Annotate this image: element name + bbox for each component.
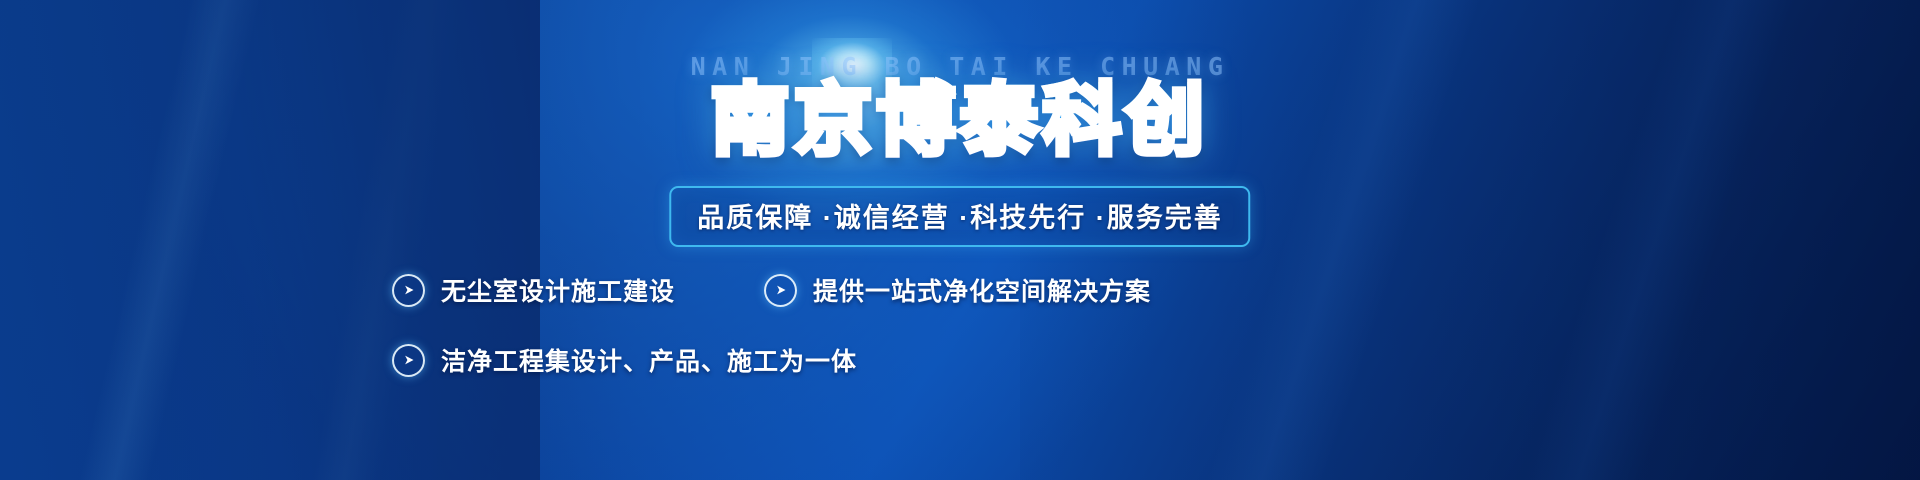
arrow-right-circle-icon bbox=[392, 274, 425, 307]
company-title: 南京博泰科创 bbox=[711, 82, 1209, 160]
bullet-row-2: 洁净工程集设计、产品、施工为一体 bbox=[392, 332, 1572, 388]
arrow-right-circle-icon bbox=[764, 274, 797, 307]
bullet-item-1: 无尘室设计施工建设 bbox=[392, 272, 764, 308]
slogan-pill: 品质保障 ·诚信经营 ·科技先行 ·服务完善 bbox=[669, 186, 1250, 247]
bullet-label-1: 无尘室设计施工建设 bbox=[441, 272, 675, 308]
arrow-right-circle-icon bbox=[392, 344, 425, 377]
bullet-item-2: 提供一站式净化空间解决方案 bbox=[764, 272, 1151, 308]
bullet-label-3: 洁净工程集设计、产品、施工为一体 bbox=[441, 342, 857, 378]
company-title-wrapper: 南京博泰科创 bbox=[0, 82, 1920, 160]
feature-bullet-list: 无尘室设计施工建设 提供一站式净化空间解决方案 洁净工程集设计、产品、施工为一体 bbox=[392, 262, 1572, 402]
bullet-label-2: 提供一站式净化空间解决方案 bbox=[813, 272, 1151, 308]
promo-banner: NAN JING BO TAI KE CHUANG 南京博泰科创 品质保障 ·诚… bbox=[0, 0, 1920, 480]
bullet-item-3: 洁净工程集设计、产品、施工为一体 bbox=[392, 342, 857, 378]
bullet-row-1: 无尘室设计施工建设 提供一站式净化空间解决方案 bbox=[392, 262, 1572, 318]
